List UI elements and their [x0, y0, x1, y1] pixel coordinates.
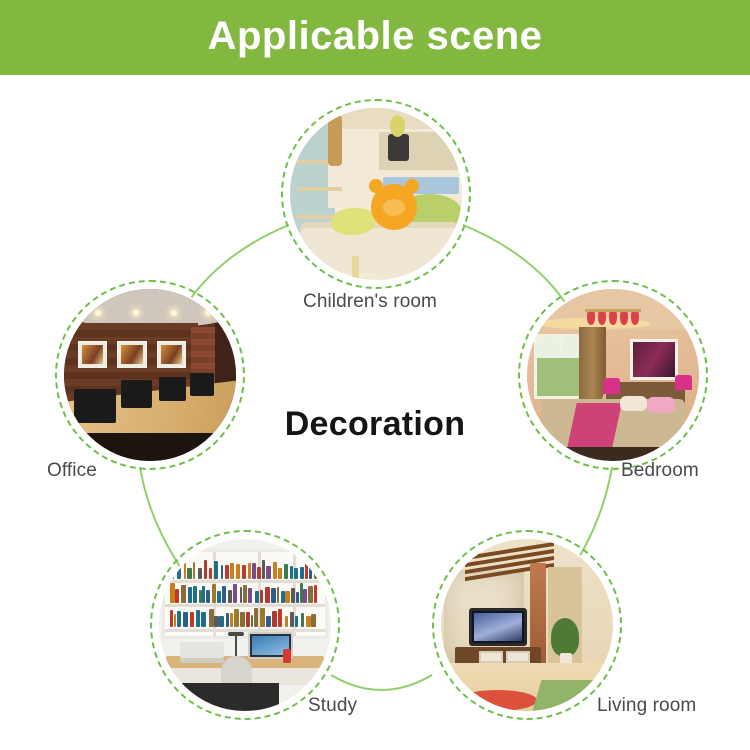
node-label-children-room: Children's room	[303, 291, 437, 313]
node-bedroom[interactable]	[518, 280, 708, 470]
applicable-scene-infographic: Applicable scene Decoration	[0, 0, 750, 750]
node-label-office: Office	[47, 460, 97, 482]
node-office[interactable]	[55, 280, 245, 470]
photo-office	[64, 289, 236, 461]
node-study[interactable]	[150, 530, 340, 720]
photo-living-room	[441, 539, 613, 711]
photo-study	[159, 539, 331, 711]
node-label-study: Study	[308, 695, 357, 717]
photo-bedroom	[527, 289, 699, 461]
node-label-living-room: Living room	[597, 695, 696, 717]
header-banner: Applicable scene	[0, 0, 750, 75]
photo-children-room	[290, 108, 462, 280]
diagram-stage: Decoration Children's room	[0, 75, 750, 750]
node-living-room[interactable]	[432, 530, 622, 720]
node-label-bedroom: Bedroom	[621, 460, 699, 482]
page-title: Applicable scene	[208, 16, 543, 59]
connector-study-living	[331, 675, 432, 690]
node-children-room[interactable]	[281, 99, 471, 289]
